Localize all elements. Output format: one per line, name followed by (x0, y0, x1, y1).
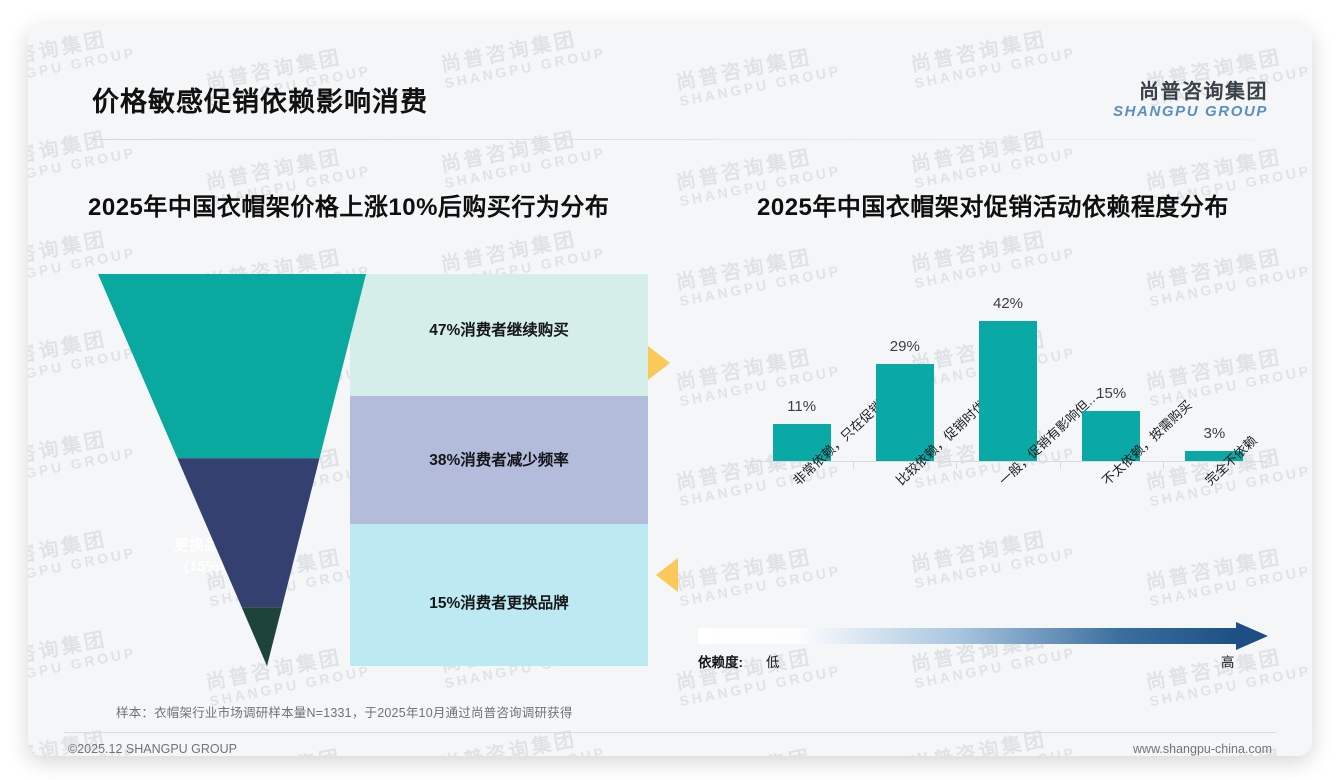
page-title: 价格敏感促销依赖影响消费 (92, 80, 428, 119)
bar-3[interactable] (979, 321, 1037, 461)
bar-value-label-1: 11% (762, 398, 842, 415)
triangle-right-icon (648, 346, 670, 380)
logo-cn-text: 尚普咨询集团 (1113, 82, 1268, 103)
funnel-shape (88, 274, 648, 666)
x-axis-tick-end (1266, 462, 1267, 469)
right-chart-title: 2025年中国衣帽架对促销活动依赖程度分布 (757, 187, 1229, 222)
watermark-text: 尚普咨询集团SHANGPU GROUP (908, 718, 1077, 756)
dependency-bar-chart: 11%非常依赖，只在促销…29%比较依赖，促销时优…42%一般，促销有影响但…1… (728, 274, 1288, 614)
legend-low-label: 低 (766, 651, 780, 671)
bar-value-label-3: 42% (968, 295, 1048, 312)
dependency-gradient-legend: 依赖度: 低 高 (688, 620, 1288, 680)
footer-divider (64, 732, 1276, 733)
bar-value-label-4: 15% (1071, 385, 1151, 402)
source-note: 样本：衣帽架行业市场调研样本量N=1331，于2025年10月通过尚普咨询调研获… (116, 702, 573, 721)
x-axis-tick-4 (1060, 462, 1061, 469)
slide-card: 尚普咨询集团SHANGPU GROUP尚普咨询集团SHANGPU GROUP尚普… (28, 24, 1312, 756)
x-axis-tick-2 (853, 462, 854, 469)
funnel-segment-3 (242, 607, 282, 666)
bar-value-label-2: 29% (865, 338, 945, 355)
legend-title: 依赖度: (698, 651, 743, 671)
footer-website: www.shangpu-china.com (1133, 742, 1272, 756)
legend-high-label: 高 (1221, 651, 1235, 671)
footer-copyright: ©2025.12 SHANGPU GROUP (68, 742, 237, 756)
slide-header: 价格敏感促销依赖影响消费 尚普咨询集团 SHANGPU GROUP (28, 24, 1312, 100)
watermark-text: 尚普咨询集团SHANGPU GROUP (28, 118, 137, 192)
x-axis-tick-3 (956, 462, 957, 469)
left-chart-title: 2025年中国衣帽架价格上涨10%后购买行为分布 (88, 187, 609, 222)
watermark-text: 尚普咨询集团SHANGPU GROUP (908, 118, 1077, 192)
gradient-arrow-icon (688, 620, 1288, 654)
watermark-text: 尚普咨询集团SHANGPU GROUP (673, 736, 842, 756)
funnel-segment-2 (177, 458, 319, 607)
triangle-left-icon (656, 558, 678, 592)
watermark-text: 尚普咨询集团SHANGPU GROUP (438, 718, 607, 756)
logo-en-text: SHANGPU GROUP (1113, 104, 1268, 120)
funnel-chart: 47%消费者继续购买 38%消费者减少频率 15%消费者更换品牌 (88, 274, 648, 666)
brand-logo: 尚普咨询集团 SHANGPU GROUP (1113, 82, 1268, 120)
x-axis-tick-1 (750, 462, 751, 469)
watermark-text: 尚普咨询集团SHANGPU GROUP (438, 118, 607, 192)
header-divider (92, 139, 1252, 140)
x-axis-tick-5 (1163, 462, 1164, 469)
funnel-segment-1 (98, 274, 366, 458)
